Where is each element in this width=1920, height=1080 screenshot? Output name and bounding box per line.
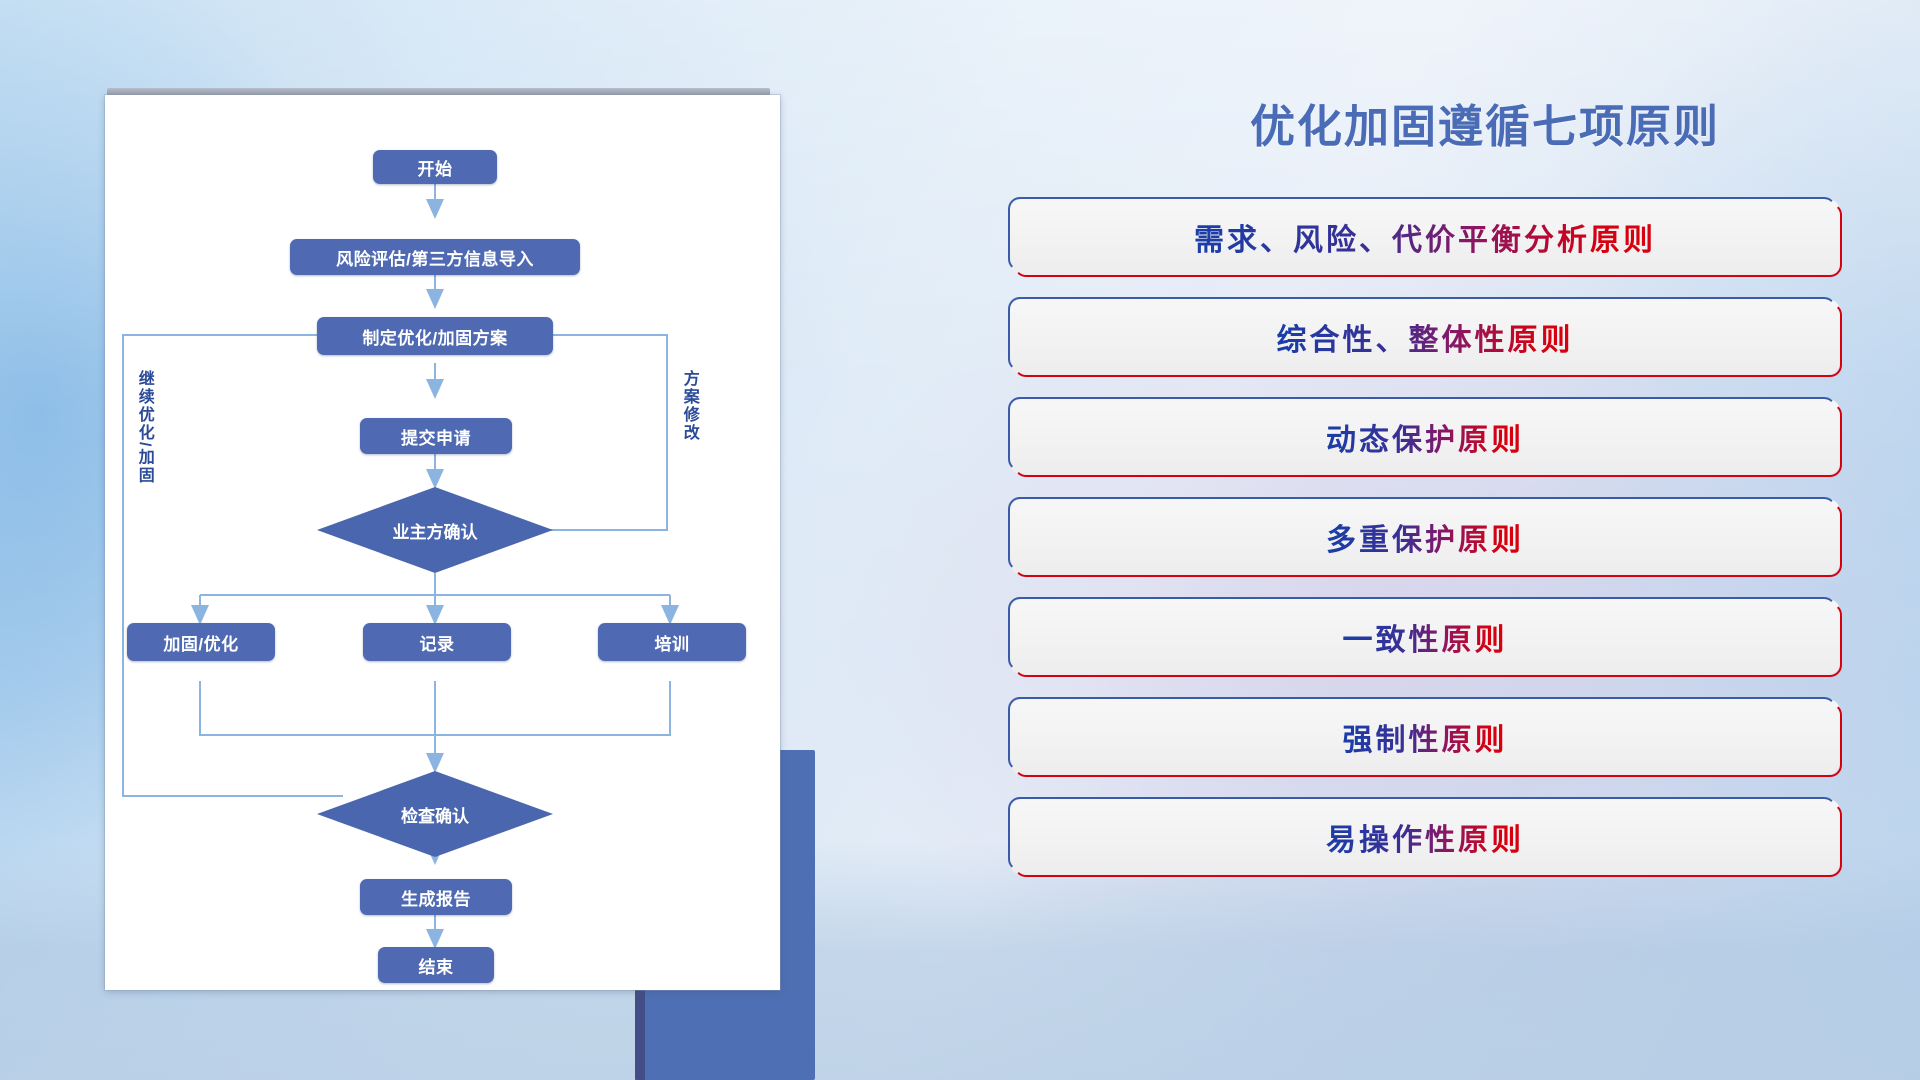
principle-card[interactable]: 综合性、整体性原则 [1010, 299, 1840, 375]
flowchart-white-card: 开始 风险评估/第三方信息导入 制定优化/加固方案 提交申请 业主方确认 加固/… [105, 95, 780, 990]
principles-panel: 优化加固遵循七项原则 需求、风险、代价平衡分析原则 综合性、整体性原则 动态保护… [1010, 90, 1840, 1010]
principle-label: 多重保护原则 [1326, 515, 1524, 559]
flow-node-submit-label: 提交申请 [401, 424, 471, 449]
principle-label: 一致性原则 [1343, 615, 1508, 659]
flow-node-end-label: 结束 [419, 953, 454, 978]
principle-label: 易操作性原则 [1326, 815, 1524, 859]
flow-edge-label-revise: 方案修改 [680, 370, 697, 500]
flow-node-risk-assessment-label: 风险评估/第三方信息导入 [336, 245, 534, 270]
principle-card[interactable]: 易操作性原则 [1010, 799, 1840, 875]
flow-node-owner-confirm[interactable]: 业主方确认 [317, 487, 553, 573]
principle-label: 需求、风险、代价平衡分析原则 [1194, 215, 1656, 259]
flow-node-record-label: 记录 [420, 630, 455, 655]
principle-card[interactable]: 动态保护原则 [1010, 399, 1840, 475]
flow-node-reinforce[interactable]: 加固/优化 [127, 623, 275, 661]
flow-node-owner-confirm-label: 业主方确认 [393, 518, 478, 543]
principle-label: 综合性、整体性原则 [1277, 315, 1574, 359]
flow-node-risk-assessment[interactable]: 风险评估/第三方信息导入 [290, 239, 580, 275]
flow-node-plan-label: 制定优化/加固方案 [362, 324, 507, 349]
flow-node-start[interactable]: 开始 [373, 150, 497, 184]
flow-node-training-label: 培训 [655, 630, 690, 655]
flow-edge-label-continue: 继续优化/加固 [135, 370, 152, 550]
panel-title: 优化加固遵循七项原则 [1130, 90, 1840, 155]
flow-node-report-label: 生成报告 [401, 885, 471, 910]
flow-node-check-confirm[interactable]: 检查确认 [317, 771, 553, 857]
principles-list: 需求、风险、代价平衡分析原则 综合性、整体性原则 动态保护原则 多重保护原则 一… [1010, 199, 1840, 875]
flow-node-end[interactable]: 结束 [378, 947, 494, 983]
flow-node-training[interactable]: 培训 [598, 623, 746, 661]
principle-card[interactable]: 一致性原则 [1010, 599, 1840, 675]
principle-card[interactable]: 需求、风险、代价平衡分析原则 [1010, 199, 1840, 275]
flow-node-record[interactable]: 记录 [363, 623, 511, 661]
principle-card[interactable]: 强制性原则 [1010, 699, 1840, 775]
principle-label: 强制性原则 [1343, 715, 1508, 759]
flow-node-check-confirm-label: 检查确认 [401, 802, 469, 827]
principle-label: 动态保护原则 [1326, 415, 1524, 459]
flow-node-plan[interactable]: 制定优化/加固方案 [317, 317, 553, 355]
flow-node-submit[interactable]: 提交申请 [360, 418, 512, 454]
flow-node-start-label: 开始 [418, 155, 453, 180]
flow-node-report[interactable]: 生成报告 [360, 879, 512, 915]
principle-card[interactable]: 多重保护原则 [1010, 499, 1840, 575]
flow-node-reinforce-label: 加固/优化 [163, 630, 238, 655]
flowchart-panel: 开始 风险评估/第三方信息导入 制定优化/加固方案 提交申请 业主方确认 加固/… [105, 95, 795, 995]
